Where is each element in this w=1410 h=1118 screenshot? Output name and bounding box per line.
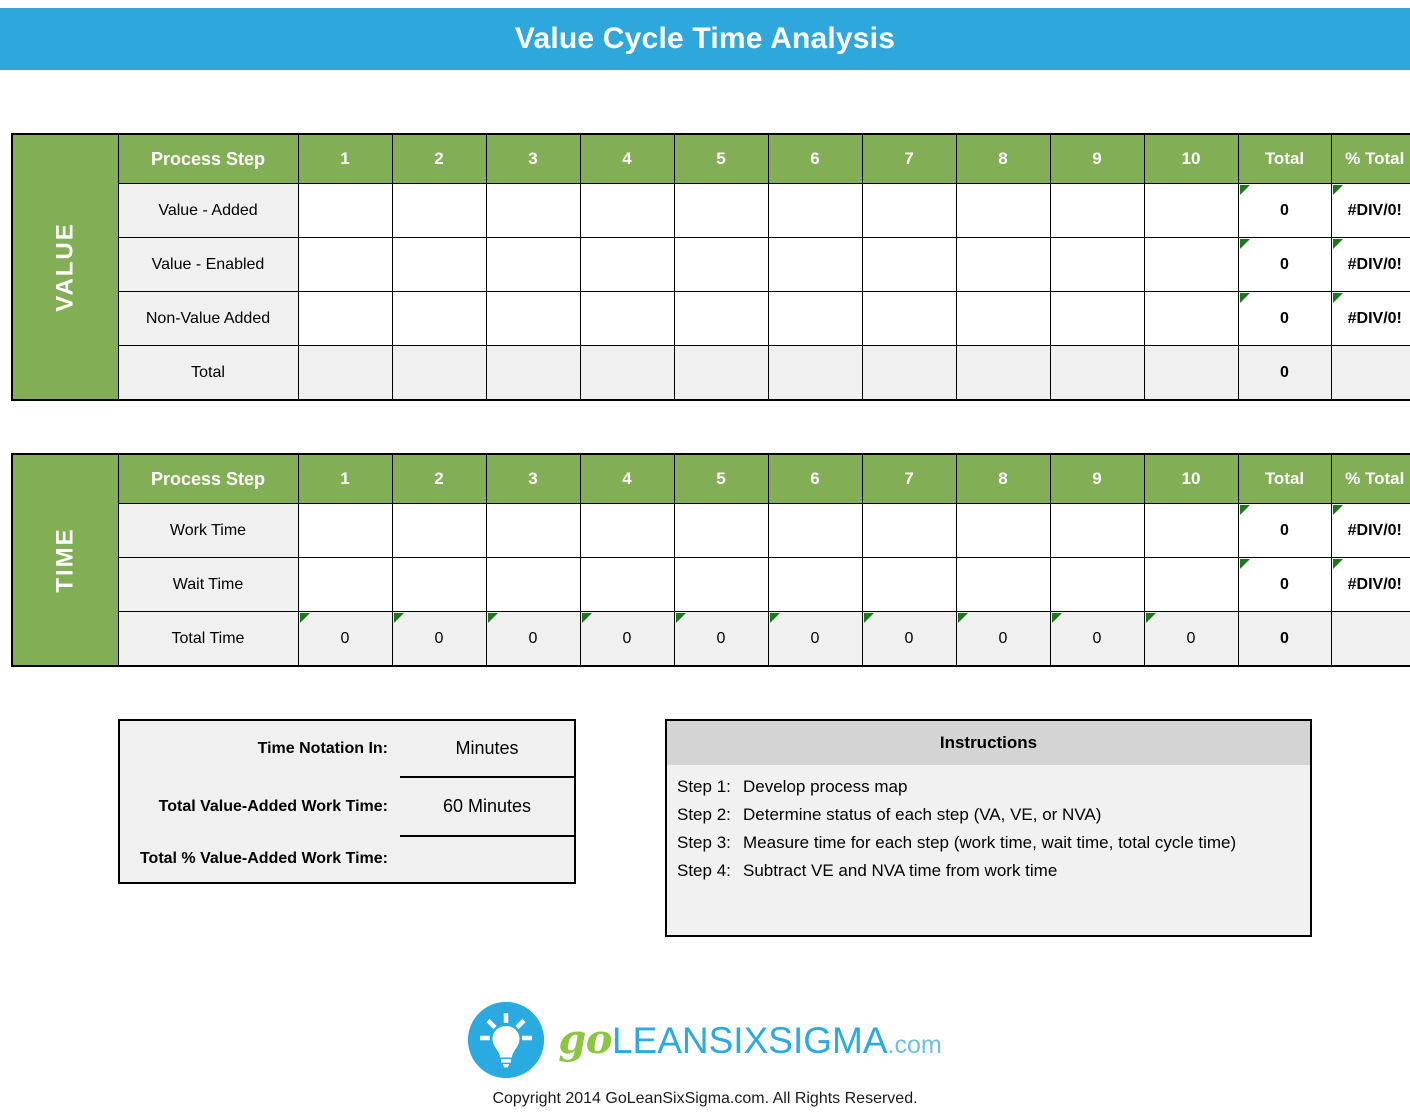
- cell-wait-time-total: 0: [1238, 558, 1331, 612]
- cell-wait-time-step-7[interactable]: [862, 558, 956, 612]
- cell-value-added-step-3[interactable]: [486, 184, 580, 238]
- cell-value-total-step-6: [768, 346, 862, 401]
- cell-non-value-added-step-5[interactable]: [674, 292, 768, 346]
- summary-value-total-pct-va-work-time[interactable]: [400, 836, 574, 882]
- instructions-title: Instructions: [667, 721, 1310, 765]
- cell-value-enabled-step-7[interactable]: [862, 238, 956, 292]
- instruction-step-3-number: Step 3:: [677, 829, 743, 857]
- time-column-header-step-4: 4: [580, 454, 674, 504]
- cell-value-added-step-9[interactable]: [1050, 184, 1144, 238]
- summary-label-time-notation: Time Notation In:: [120, 721, 400, 777]
- time-side-label-text: TIME: [51, 508, 79, 613]
- cell-value-enabled-step-10[interactable]: [1144, 238, 1238, 292]
- cell-work-time-step-5[interactable]: [674, 504, 768, 558]
- column-header-total: Total: [1238, 134, 1331, 184]
- cell-value-enabled-step-3[interactable]: [486, 238, 580, 292]
- summary-box: Time Notation In: Minutes Total Value-Ad…: [118, 719, 576, 884]
- cell-wait-time-step-8[interactable]: [956, 558, 1050, 612]
- instructions-box: Instructions Step 1:Develop process map …: [665, 719, 1312, 937]
- table-row: VALUE Process Step 1 2 3 4 5 6 7 8 9 10 …: [12, 134, 1410, 184]
- instruction-step-1: Step 1:Develop process map: [677, 773, 1310, 801]
- cell-wait-time-pct-total: #DIV/0!: [1331, 558, 1410, 612]
- cell-value-enabled-step-9[interactable]: [1050, 238, 1144, 292]
- cell-value-total-step-9: [1050, 346, 1144, 401]
- lightbulb-icon-svg: [468, 1002, 544, 1078]
- cell-work-time-step-6[interactable]: [768, 504, 862, 558]
- cell-value-enabled-total: 0: [1238, 238, 1331, 292]
- cell-work-time-step-10[interactable]: [1144, 504, 1238, 558]
- table-row: Value - Added 0 #DIV/0!: [12, 184, 1410, 238]
- cell-value-total-step-1: [298, 346, 392, 401]
- cell-value-total-step-10: [1144, 346, 1238, 401]
- cell-value-added-step-10[interactable]: [1144, 184, 1238, 238]
- cell-value-enabled-step-5[interactable]: [674, 238, 768, 292]
- summary-table: Time Notation In: Minutes Total Value-Ad…: [120, 721, 574, 882]
- cell-total-time-step-9: 0: [1050, 612, 1144, 667]
- cell-total-time-step-8: 0: [956, 612, 1050, 667]
- table-row: Total 0: [12, 346, 1410, 401]
- cell-work-time-step-1[interactable]: [298, 504, 392, 558]
- column-header-step-6: 6: [768, 134, 862, 184]
- table-row: Wait Time 0 #DIV/0!: [12, 558, 1410, 612]
- instruction-step-4-text: Subtract VE and NVA time from work time: [743, 861, 1057, 880]
- cell-non-value-added-step-4[interactable]: [580, 292, 674, 346]
- time-column-header-step-1: 1: [298, 454, 392, 504]
- cell-value-total-pct-total: [1331, 346, 1410, 401]
- instruction-step-1-number: Step 1:: [677, 773, 743, 801]
- cell-wait-time-step-9[interactable]: [1050, 558, 1144, 612]
- time-column-header-pct-total: % Total: [1331, 454, 1410, 504]
- cell-work-time-total: 0: [1238, 504, 1331, 558]
- summary-row-time-notation: Time Notation In: Minutes: [120, 721, 574, 777]
- column-header-step-8: 8: [956, 134, 1050, 184]
- footer: goLEANSIXSIGMA.com Copyright 2014 GoLean…: [0, 1002, 1410, 1108]
- value-side-label-text: VALUE: [51, 215, 79, 320]
- cell-value-added-step-2[interactable]: [392, 184, 486, 238]
- cell-value-total-total: 0: [1238, 346, 1331, 401]
- time-column-header-step-3: 3: [486, 454, 580, 504]
- cell-value-added-step-6[interactable]: [768, 184, 862, 238]
- column-header-step-9: 9: [1050, 134, 1144, 184]
- time-column-header-step-10: 10: [1144, 454, 1238, 504]
- cell-total-time-step-7: 0: [862, 612, 956, 667]
- cell-work-time-step-8[interactable]: [956, 504, 1050, 558]
- cell-value-total-step-5: [674, 346, 768, 401]
- cell-value-total-step-2: [392, 346, 486, 401]
- lightbulb-icon: [468, 1002, 544, 1078]
- summary-label-total-va-work-time: Total Value-Added Work Time:: [120, 777, 400, 836]
- cell-value-added-step-5[interactable]: [674, 184, 768, 238]
- column-header-step-3: 3: [486, 134, 580, 184]
- cell-value-added-step-4[interactable]: [580, 184, 674, 238]
- column-header-step-2: 2: [392, 134, 486, 184]
- instruction-step-1-text: Develop process map: [743, 777, 907, 796]
- cell-wait-time-step-6[interactable]: [768, 558, 862, 612]
- cell-work-time-step-2[interactable]: [392, 504, 486, 558]
- row-label-total-time: Total Time: [118, 612, 298, 667]
- cell-value-added-step-7[interactable]: [862, 184, 956, 238]
- column-header-step-5: 5: [674, 134, 768, 184]
- logo-wordmark: goLEANSIXSIGMA.com: [558, 1020, 941, 1060]
- instruction-step-2-number: Step 2:: [677, 801, 743, 829]
- summary-row-total-pct-va-work-time: Total % Value-Added Work Time:: [120, 836, 574, 882]
- table-row: Non-Value Added 0 #DIV/0!: [12, 292, 1410, 346]
- cell-value-total-step-8: [956, 346, 1050, 401]
- cell-non-value-added-step-2[interactable]: [392, 292, 486, 346]
- time-column-header-step-2: 2: [392, 454, 486, 504]
- logo-go-text: go: [558, 1016, 612, 1063]
- instruction-step-3: Step 3:Measure time for each step (work …: [677, 829, 1310, 857]
- time-column-header-process-step: Process Step: [118, 454, 298, 504]
- summary-row-total-va-work-time: Total Value-Added Work Time: 60 Minutes: [120, 777, 574, 836]
- cell-wait-time-step-4[interactable]: [580, 558, 674, 612]
- cell-non-value-added-step-6[interactable]: [768, 292, 862, 346]
- cell-wait-time-step-5[interactable]: [674, 558, 768, 612]
- cell-total-time-step-3: 0: [486, 612, 580, 667]
- logo-tld-text: .com: [888, 1031, 942, 1059]
- time-column-header-step-9: 9: [1050, 454, 1144, 504]
- summary-value-time-notation[interactable]: Minutes: [400, 721, 574, 777]
- time-column-header-total: Total: [1238, 454, 1331, 504]
- cell-total-time-pct-total: [1331, 612, 1410, 667]
- cell-non-value-added-step-7[interactable]: [862, 292, 956, 346]
- column-header-pct-total: % Total: [1331, 134, 1410, 184]
- time-column-header-step-6: 6: [768, 454, 862, 504]
- cell-value-total-step-7: [862, 346, 956, 401]
- cell-value-enabled-step-2[interactable]: [392, 238, 486, 292]
- cell-non-value-added-step-10[interactable]: [1144, 292, 1238, 346]
- column-header-step-7: 7: [862, 134, 956, 184]
- summary-label-total-pct-va-work-time: Total % Value-Added Work Time:: [120, 836, 400, 882]
- instructions-body: Step 1:Develop process map Step 2:Determ…: [667, 765, 1310, 885]
- instruction-step-4-number: Step 4:: [677, 857, 743, 885]
- cell-value-total-step-3: [486, 346, 580, 401]
- cell-non-value-added-step-8[interactable]: [956, 292, 1050, 346]
- instruction-step-4: Step 4:Subtract VE and NVA time from wor…: [677, 857, 1310, 885]
- cell-total-time-step-4: 0: [580, 612, 674, 667]
- row-label-value-enabled: Value - Enabled: [118, 238, 298, 292]
- cell-value-enabled-step-6[interactable]: [768, 238, 862, 292]
- cell-total-time-total: 0: [1238, 612, 1331, 667]
- cell-total-time-step-1: 0: [298, 612, 392, 667]
- time-column-header-step-5: 5: [674, 454, 768, 504]
- cell-wait-time-step-1[interactable]: [298, 558, 392, 612]
- logo-name-text: LEANSIXSIGMA: [612, 1020, 888, 1061]
- cell-work-time-step-3[interactable]: [486, 504, 580, 558]
- summary-value-total-va-work-time[interactable]: 60 Minutes: [400, 777, 574, 836]
- page-title: Value Cycle Time Analysis: [515, 22, 895, 56]
- cell-value-added-step-1[interactable]: [298, 184, 392, 238]
- cell-value-enabled-step-4[interactable]: [580, 238, 674, 292]
- copyright-text: Copyright 2014 GoLeanSixSigma.com. All R…: [492, 1090, 917, 1108]
- column-header-step-4: 4: [580, 134, 674, 184]
- time-table: TIME Process Step 1 2 3 4 5 6 7 8 9 10 T…: [11, 453, 1410, 667]
- row-label-value-added: Value - Added: [118, 184, 298, 238]
- cell-work-time-step-9[interactable]: [1050, 504, 1144, 558]
- cell-total-time-step-6: 0: [768, 612, 862, 667]
- row-label-wait-time: Wait Time: [118, 558, 298, 612]
- value-side-label: VALUE: [12, 134, 118, 400]
- cell-value-added-step-8[interactable]: [956, 184, 1050, 238]
- row-label-non-value-added: Non-Value Added: [118, 292, 298, 346]
- instruction-step-2-text: Determine status of each step (VA, VE, o…: [743, 805, 1101, 824]
- cell-wait-time-step-3[interactable]: [486, 558, 580, 612]
- cell-total-time-step-10: 0: [1144, 612, 1238, 667]
- cell-non-value-added-total: 0: [1238, 292, 1331, 346]
- cell-work-time-step-4[interactable]: [580, 504, 674, 558]
- cell-total-time-step-5: 0: [674, 612, 768, 667]
- cell-wait-time-step-10[interactable]: [1144, 558, 1238, 612]
- cell-value-added-total: 0: [1238, 184, 1331, 238]
- cell-non-value-added-pct-total: #DIV/0!: [1331, 292, 1410, 346]
- table-row: Work Time 0 #DIV/0!: [12, 504, 1410, 558]
- cell-work-time-step-7[interactable]: [862, 504, 956, 558]
- table-row: Value - Enabled 0 #DIV/0!: [12, 238, 1410, 292]
- page-title-banner: Value Cycle Time Analysis: [0, 8, 1410, 70]
- cell-wait-time-step-2[interactable]: [392, 558, 486, 612]
- time-column-header-step-7: 7: [862, 454, 956, 504]
- table-row: Total Time 0 0 0 0 0 0 0 0 0 0 0: [12, 612, 1410, 667]
- time-column-header-step-8: 8: [956, 454, 1050, 504]
- cell-non-value-added-step-9[interactable]: [1050, 292, 1144, 346]
- column-header-process-step: Process Step: [118, 134, 298, 184]
- instruction-step-2: Step 2:Determine status of each step (VA…: [677, 801, 1310, 829]
- column-header-step-10: 10: [1144, 134, 1238, 184]
- cell-total-time-step-2: 0: [392, 612, 486, 667]
- row-label-value-total: Total: [118, 346, 298, 401]
- cell-value-enabled-step-8[interactable]: [956, 238, 1050, 292]
- time-side-label: TIME: [12, 454, 118, 666]
- column-header-step-1: 1: [298, 134, 392, 184]
- logo: goLEANSIXSIGMA.com: [468, 1002, 941, 1078]
- cell-value-total-step-4: [580, 346, 674, 401]
- instruction-step-3-text: Measure time for each step (work time, w…: [743, 833, 1236, 852]
- cell-non-value-added-step-1[interactable]: [298, 292, 392, 346]
- cell-value-enabled-step-1[interactable]: [298, 238, 392, 292]
- cell-work-time-pct-total: #DIV/0!: [1331, 504, 1410, 558]
- cell-non-value-added-step-3[interactable]: [486, 292, 580, 346]
- value-table: VALUE Process Step 1 2 3 4 5 6 7 8 9 10 …: [11, 133, 1410, 401]
- cell-value-added-pct-total: #DIV/0!: [1331, 184, 1410, 238]
- row-label-work-time: Work Time: [118, 504, 298, 558]
- table-row: TIME Process Step 1 2 3 4 5 6 7 8 9 10 T…: [12, 454, 1410, 504]
- cell-value-enabled-pct-total: #DIV/0!: [1331, 238, 1410, 292]
